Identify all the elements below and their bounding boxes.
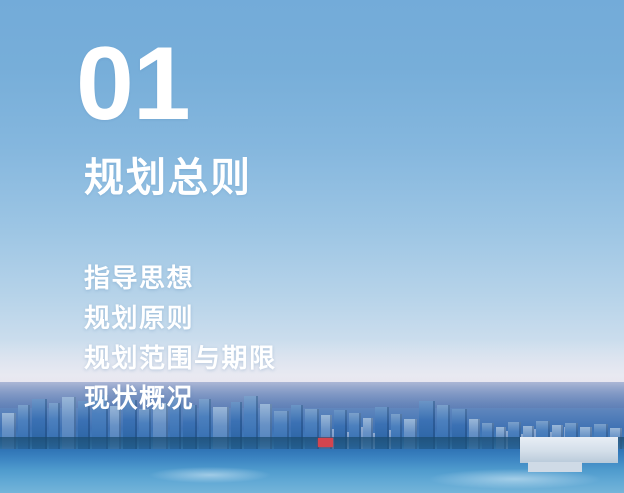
presentation-slide: 01 规划总则 指导思想 规划原则 规划范围与期限 现状概况	[0, 0, 624, 493]
section-title: 规划总则	[84, 155, 252, 201]
toc-item-3[interactable]: 规划范围与期限	[84, 338, 277, 378]
toc-item-2[interactable]: 规划原则	[84, 298, 277, 338]
slide-content: 01 规划总则 指导思想 规划原则 规划范围与期限 现状概况	[0, 0, 624, 493]
toc-item-4[interactable]: 现状概况	[84, 378, 277, 418]
table-of-contents: 指导思想 规划原则 规划范围与期限 现状概况	[84, 258, 277, 418]
toc-item-1[interactable]: 指导思想	[84, 258, 277, 298]
section-number: 01	[76, 32, 190, 136]
